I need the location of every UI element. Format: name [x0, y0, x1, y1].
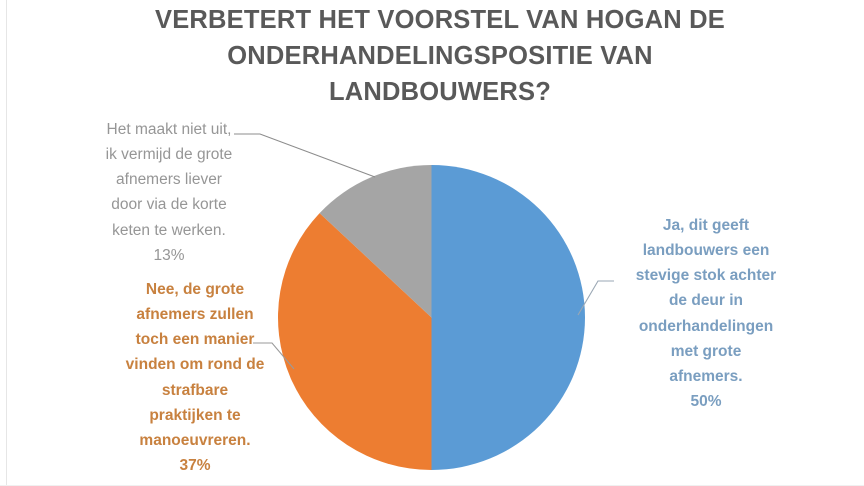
chart-canvas: VERBETERT HET VOORSTEL VAN HOGAN DE ONDE… — [0, 0, 864, 486]
pie-chart-svg — [278, 165, 585, 470]
pie-chart — [278, 165, 585, 470]
data-label-nee: Nee, de grote afnemers zullen toch een m… — [78, 252, 312, 486]
data-label-nee-text: Nee, de grote afnemers zullen toch een m… — [126, 281, 265, 449]
frame-left-border — [6, 0, 7, 486]
data-label-ja-text: Ja, dit geeft landbouwers een stevige st… — [636, 217, 776, 385]
data-label-ja-percent: 50% — [590, 389, 822, 414]
data-label-maakt-niet-uit-text: Het maakt niet uit, ik vermijd de grote … — [106, 121, 233, 238]
pie-slice-ja[interactable] — [432, 165, 586, 470]
data-label-ja: Ja, dit geeft landbouwers een stevige st… — [590, 188, 822, 439]
data-label-nee-percent: 37% — [78, 453, 312, 478]
